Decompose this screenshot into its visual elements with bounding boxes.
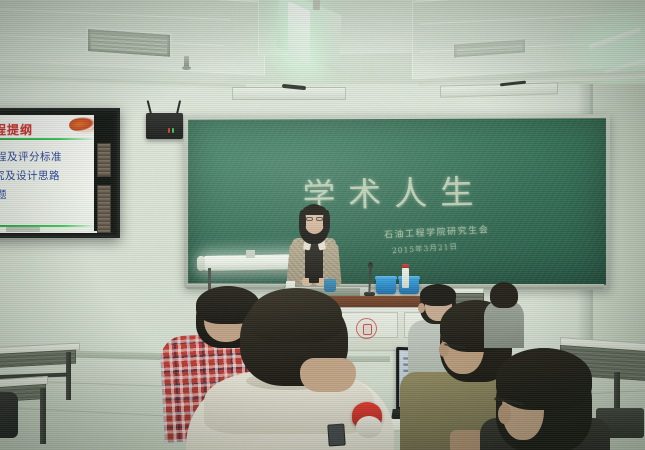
slide-bullet-1: 研究及设计思路 — [0, 168, 60, 183]
sprinkler-head-icon — [184, 56, 189, 67]
presenter-clicker — [309, 277, 319, 283]
lamp-mount — [246, 250, 255, 258]
lamp-stand-left — [208, 268, 211, 290]
wifi-router-icon — [146, 113, 183, 139]
chalkboard-headline: 学术人生 — [302, 165, 487, 217]
light-hanger — [313, 0, 320, 10]
student-gray-hair-top — [420, 284, 456, 306]
classroom-photo: 课程提纲 课程及评分标准 研究及设计思路 课题 学术人生 石油工程学院研究生会 … — [0, 0, 645, 450]
microphone-head-icon — [368, 262, 373, 269]
slide-emblem-icon — [68, 115, 96, 132]
student-gray-ear — [418, 303, 425, 313]
presenter-glasses-left — [306, 217, 313, 221]
blue-cup — [324, 279, 336, 292]
display-screen: 课程提纲 课程及评分标准 研究及设计思路 课题 — [0, 115, 99, 233]
presenter-glasses-right — [316, 217, 323, 221]
presenter-hair-side-left — [299, 210, 306, 234]
chalkboard-subtitle: 石油工程学院研究生会 — [384, 222, 490, 240]
router-led-green — [172, 128, 174, 133]
slide-title: 课程提纲 — [0, 121, 33, 138]
slide-divider — [0, 138, 97, 140]
student-hoodie-neck — [300, 358, 356, 392]
presenter-hair-side-right — [323, 210, 330, 234]
student-right-hair — [490, 282, 518, 308]
slide-bullet-2: 课题 — [0, 187, 7, 202]
slide-bullet-0: 课程及评分标准 — [0, 149, 62, 164]
chalkboard-date: 2015年3月21日 — [392, 241, 459, 256]
display-speaker-top — [97, 143, 111, 177]
student-olive-hand — [450, 430, 484, 450]
bottle-cap-icon — [402, 264, 409, 268]
water-bottle — [402, 268, 409, 288]
display-bezel-side — [94, 115, 114, 231]
student-glasses-ear — [498, 404, 511, 424]
university-emblem-icon — [356, 318, 377, 339]
black-bag — [0, 392, 18, 438]
desk-leg — [40, 388, 46, 444]
red-cap-brim — [356, 416, 382, 438]
display-speaker-bottom — [97, 185, 111, 233]
lamp-cap-left — [197, 256, 205, 271]
router-led-red — [168, 128, 170, 133]
valance-left — [232, 87, 346, 100]
phone[interactable] — [327, 423, 345, 446]
blue-bin-left — [376, 278, 396, 294]
display-brand-logo — [6, 227, 40, 232]
fluorescent-tube-center — [288, 1, 310, 67]
student-hoodie-hair-top — [250, 288, 342, 342]
display-panel[interactable]: 课程提纲 课程及评分标准 研究及设计思路 课题 — [0, 108, 120, 238]
